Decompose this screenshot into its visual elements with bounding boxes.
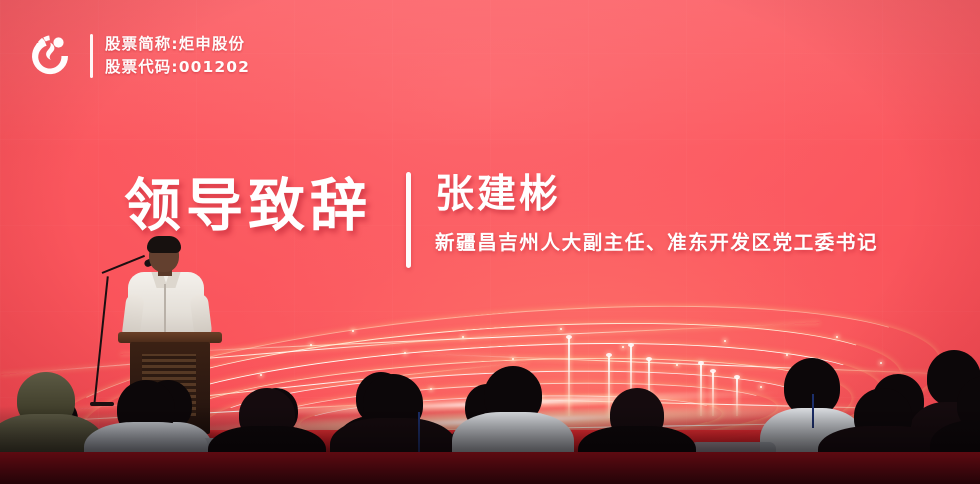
shirt-placket [164,284,166,334]
speaker-info: 张建彬 新疆昌吉州人大副主任、准东开发区党工委书记 [435,168,878,254]
header-divider [90,34,93,78]
microphone-arm [102,255,145,274]
stage-front-edge [0,452,980,484]
headline-leadership-speech: 领导致辞 [124,178,372,235]
stock-info: 股票简称:炬申股份 股票代码:001202 [105,35,250,77]
speaker-name: 张建彬 [435,174,878,217]
title-divider [406,172,411,268]
stock-abbreviation: 股票简称:炬申股份 [105,35,250,54]
company-logo-icon [22,28,78,84]
lanyard [418,412,420,452]
brand-header: 股票简称:炬申股份 股票代码:001202 [22,28,250,84]
stage-photo: 股票简称:炬申股份 股票代码:001202 领导致辞 张建彬 新疆昌吉州人大副主… [0,0,980,484]
stock-code: 股票代码:001202 [105,58,250,77]
speaker-title: 新疆昌吉州人大副主任、准东开发区党工委书记 [435,231,878,254]
lanyard [812,394,814,428]
speaker-hair [147,236,181,253]
